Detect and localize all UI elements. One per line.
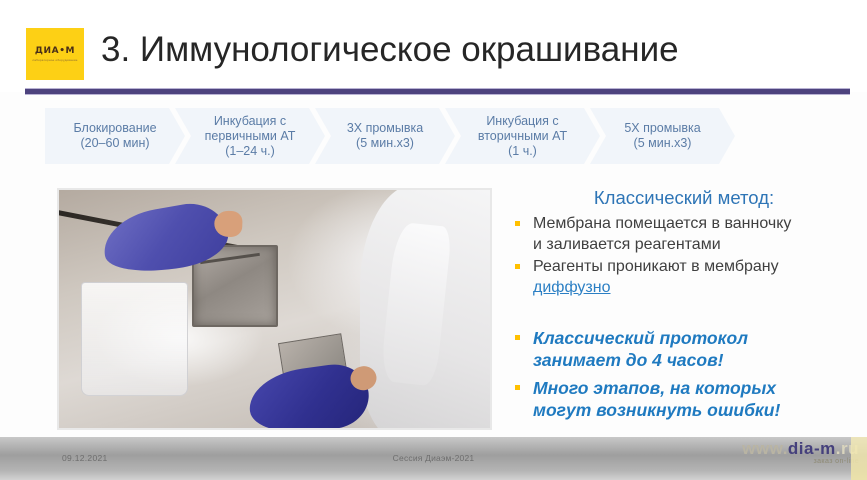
method-heading: Классический метод: — [505, 186, 863, 210]
list-item: Классический протокол занимает до 4 часо… — [505, 327, 865, 371]
process-step-3-line1: 3Х промывка — [347, 121, 423, 136]
footer-accent-strip — [851, 437, 867, 480]
emphasis-1-line1: Классический протокол — [533, 327, 865, 349]
bullet-1-line2: и заливается реагентами — [533, 235, 863, 256]
logo-tagline: лабораторное оборудование — [32, 58, 77, 62]
process-step-5[interactable]: 5Х промывка (5 мин.х3) — [590, 108, 735, 164]
slide-canvas: ДИА•М лабораторное оборудование 3. Иммун… — [0, 0, 867, 480]
method-bullet-list: Мембрана помещается в ванночку и заливае… — [505, 214, 863, 298]
lab-video-frame[interactable] — [57, 188, 492, 430]
bullet-1-line1: Мембрана помещается в ванночку — [533, 214, 863, 235]
list-item: Реагенты проникают в мембрану диффузно — [505, 257, 863, 298]
process-step-2-line3: (1–24 ч.) — [205, 144, 296, 159]
diam-logo: ДИА•М лабораторное оборудование — [26, 28, 84, 80]
bullet-marker-icon — [515, 264, 520, 269]
lab-video-still — [59, 190, 490, 428]
bullet-2-line1: Реагенты проникают в мембрану — [533, 257, 863, 278]
slide-footer: 09.12.2021 Сессия Диаэм-2021 www.dia-m.r… — [0, 437, 867, 480]
slide-header: ДИА•М лабораторное оборудование 3. Иммун… — [0, 0, 867, 92]
process-step-4[interactable]: Инкубация с вторичными АТ (1 ч.) — [445, 108, 600, 164]
process-step-2-line1: Инкубация с — [205, 114, 296, 129]
process-step-4-line3: (1 ч.) — [478, 144, 567, 159]
watermark-brand: dia-m — [788, 439, 836, 458]
page-title: 3. Иммунологическое окрашивание — [101, 27, 679, 73]
process-step-1[interactable]: Блокирование (20–60 мин) — [45, 108, 185, 164]
process-step-2-line2: первичными АТ — [205, 129, 296, 144]
list-item: Много этапов, на которых могут возникнут… — [505, 377, 865, 421]
process-step-5-line2: (5 мин.х3) — [624, 136, 700, 151]
emphasis-block: Классический протокол занимает до 4 часо… — [505, 327, 865, 427]
process-flow: Блокирование (20–60 мин) Инкубация с пер… — [45, 108, 775, 164]
diffusion-link[interactable]: диффузно — [533, 279, 611, 296]
watermark-tagline: заказ on-line — [694, 458, 859, 465]
beaker-shape — [81, 282, 188, 396]
emphasis-1-line2: занимает до 4 часов! — [533, 349, 865, 371]
list-item: Мембрана помещается в ванночку и заливае… — [505, 214, 863, 255]
bullet-marker-icon — [515, 385, 520, 390]
emphasis-list: Классический протокол занимает до 4 часо… — [505, 327, 865, 421]
process-step-1-line1: Блокирование — [73, 121, 156, 136]
process-step-5-line1: 5Х промывка — [624, 121, 700, 136]
lab-coat-shape — [360, 188, 492, 430]
lab-coat-fold-shape — [380, 222, 452, 387]
bullet-marker-icon — [515, 221, 520, 226]
site-watermark: www.dia-m.ru заказ on-line — [694, 439, 859, 479]
process-step-4-line1: Инкубация с — [478, 114, 567, 129]
process-step-4-line2: вторичными АТ — [478, 129, 567, 144]
watermark-url: www.dia-m.ru — [694, 439, 859, 459]
bullet-marker-icon — [515, 335, 520, 340]
process-step-1-line2: (20–60 мин) — [73, 136, 156, 151]
emphasis-2-line1: Много этапов, на которых — [533, 377, 865, 399]
watermark-www: www. — [742, 439, 788, 458]
logo-wordmark: ДИА•М — [35, 47, 75, 56]
gloved-hand-lower — [245, 360, 373, 430]
method-description-block: Классический метод: Мембрана помещается … — [505, 186, 863, 300]
process-step-2[interactable]: Инкубация с первичными АТ (1–24 ч.) — [175, 108, 325, 164]
process-step-3-line2: (5 мин.х3) — [347, 136, 423, 151]
title-divider — [25, 88, 850, 95]
process-step-3[interactable]: 3Х промывка (5 мин.х3) — [315, 108, 455, 164]
emphasis-2-line2: могут возникнуть ошибки! — [533, 399, 865, 421]
